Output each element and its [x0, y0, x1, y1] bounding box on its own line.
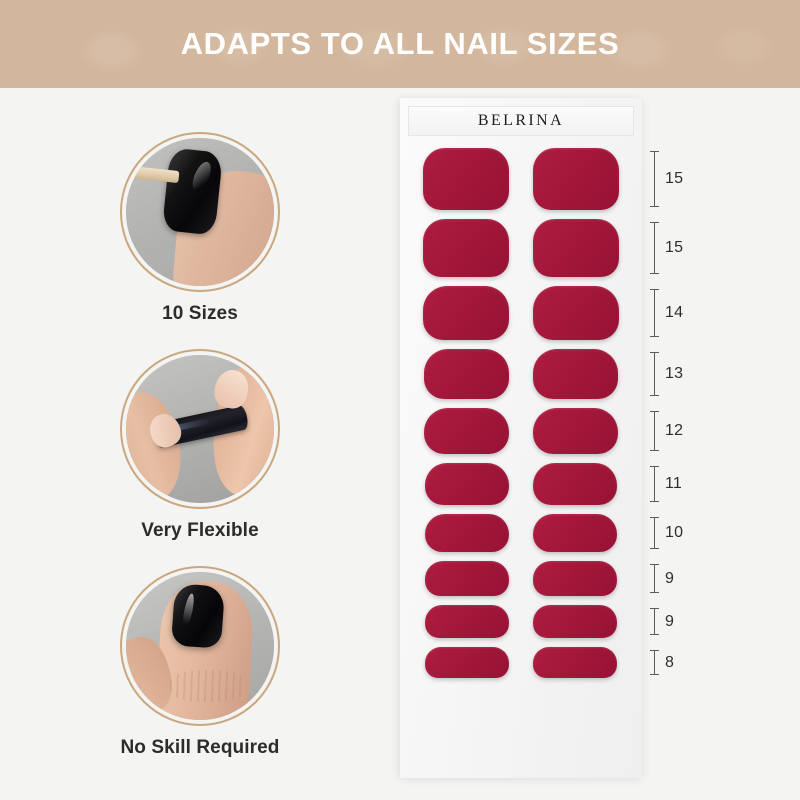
nail-wrap-sticker	[533, 408, 618, 454]
nail-wrap-sticker	[425, 463, 509, 505]
black-nail-shape	[171, 584, 226, 650]
size-number: 10	[665, 525, 683, 541]
size-marker-row: 11	[650, 463, 710, 505]
ibeam-top-cap	[650, 608, 659, 609]
nail-row	[400, 647, 642, 678]
black-nail-shape	[162, 147, 224, 235]
nail-wrap-sticker	[533, 605, 617, 638]
nail-row	[400, 148, 642, 210]
measurement-ibeam-icon	[650, 222, 659, 274]
feature-photo-frame-2	[120, 349, 280, 509]
size-number: 13	[665, 366, 683, 382]
nail-gloss-highlight	[181, 593, 196, 629]
measurement-ibeam-icon	[650, 564, 659, 593]
size-number: 11	[665, 476, 682, 492]
knuckle-shading	[248, 252, 274, 286]
measurement-ibeam-icon	[650, 517, 659, 549]
nail-row	[400, 349, 642, 399]
ibeam-bottom-cap	[650, 634, 659, 635]
nail-wrap-sticker	[533, 219, 619, 277]
ibeam-bottom-cap	[650, 548, 659, 549]
measurement-ibeam-icon	[650, 289, 659, 337]
size-marker-row: 9	[650, 605, 710, 638]
feature-list: 10 Sizes Very Flexible	[100, 132, 300, 783]
feature-photo-frame-3	[120, 566, 280, 726]
size-marker-row: 15	[650, 148, 710, 210]
size-number: 14	[665, 305, 683, 321]
nail-wrap-sticker	[423, 219, 509, 277]
ibeam-top-cap	[650, 650, 659, 651]
nail-wrap-sticker	[533, 148, 619, 210]
nail-wrap-sticker	[533, 647, 617, 678]
nail-wrap-sheet: BELRINA	[400, 98, 642, 778]
bending-nail-strip-photo	[126, 355, 274, 503]
finished-black-nail-photo	[126, 572, 274, 720]
ibeam-bottom-cap	[650, 273, 659, 274]
measurement-ibeam-icon	[650, 608, 659, 635]
feature-item-10-sizes: 10 Sizes	[100, 132, 300, 325]
nail-grid	[400, 148, 642, 687]
size-number: 15	[665, 171, 683, 187]
size-number: 9	[665, 571, 674, 587]
feature-caption-2: Very Flexible	[100, 520, 300, 542]
nail-row	[400, 408, 642, 454]
measurement-ibeam-icon	[650, 411, 659, 451]
size-marker-row: 10	[650, 514, 710, 552]
feature-item-no-skill-required: No Skill Required	[100, 566, 300, 759]
brand-label: BELRINA	[408, 106, 634, 136]
nail-wrap-sticker	[533, 463, 617, 505]
nail-wrap-sticker	[425, 605, 509, 638]
nail-row	[400, 561, 642, 596]
nail-wrap-sticker	[533, 349, 618, 399]
feature-caption-3: No Skill Required	[100, 737, 300, 759]
nail-wrap-sticker	[533, 561, 617, 596]
nail-row	[400, 605, 642, 638]
nail-wrap-sticker	[423, 148, 509, 210]
knuckle-crease-lines	[170, 670, 247, 703]
ibeam-top-cap	[650, 352, 659, 353]
ibeam-bottom-cap	[650, 450, 659, 451]
size-marker-column: 15151413121110998	[650, 148, 710, 687]
size-number: 15	[665, 240, 683, 256]
nail-row	[400, 514, 642, 552]
nail-wrap-sticker	[425, 561, 509, 596]
ibeam-top-cap	[650, 466, 659, 467]
ibeam-bottom-cap	[650, 501, 659, 502]
nail-row	[400, 286, 642, 340]
feature-item-very-flexible: Very Flexible	[100, 349, 300, 542]
nail-wrap-sticker	[425, 514, 509, 552]
ibeam-top-cap	[650, 222, 659, 223]
ibeam-bottom-cap	[650, 592, 659, 593]
page-title: ADAPTS TO ALL NAIL SIZES	[0, 0, 800, 88]
measurement-ibeam-icon	[650, 650, 659, 675]
nail-wrap-sticker	[425, 647, 509, 678]
nail-row	[400, 219, 642, 277]
size-number: 9	[665, 614, 674, 630]
measurement-ibeam-icon	[650, 151, 659, 207]
size-number: 8	[665, 655, 674, 671]
ibeam-top-cap	[650, 564, 659, 565]
size-marker-row: 15	[650, 219, 710, 277]
nail-wrap-sticker	[423, 286, 509, 340]
ibeam-top-cap	[650, 151, 659, 152]
measurement-ibeam-icon	[650, 466, 659, 502]
size-marker-row: 8	[650, 647, 710, 678]
header-banner: ADAPTS TO ALL NAIL SIZES	[0, 0, 800, 88]
ibeam-bottom-cap	[650, 395, 659, 396]
nail-row	[400, 463, 642, 505]
measurement-ibeam-icon	[650, 352, 659, 396]
ibeam-top-cap	[650, 411, 659, 412]
size-number: 12	[665, 423, 683, 439]
nail-gloss-highlight	[188, 159, 213, 193]
size-marker-row: 9	[650, 561, 710, 596]
nail-wrap-sticker	[533, 286, 619, 340]
nail-wrap-sticker	[424, 349, 509, 399]
black-nail-wrap-application-photo	[126, 138, 274, 286]
ibeam-bottom-cap	[650, 674, 659, 675]
ibeam-top-cap	[650, 517, 659, 518]
nail-wrap-sticker	[533, 514, 617, 552]
size-marker-row: 13	[650, 349, 710, 399]
nail-wrap-sticker	[424, 408, 509, 454]
feature-photo-frame-1	[120, 132, 280, 292]
ibeam-bottom-cap	[650, 206, 659, 207]
size-marker-row: 14	[650, 286, 710, 340]
ibeam-top-cap	[650, 289, 659, 290]
size-marker-row: 12	[650, 408, 710, 454]
feature-caption-1: 10 Sizes	[100, 303, 300, 325]
ibeam-bottom-cap	[650, 336, 659, 337]
brand-name: BELRINA	[478, 112, 564, 130]
